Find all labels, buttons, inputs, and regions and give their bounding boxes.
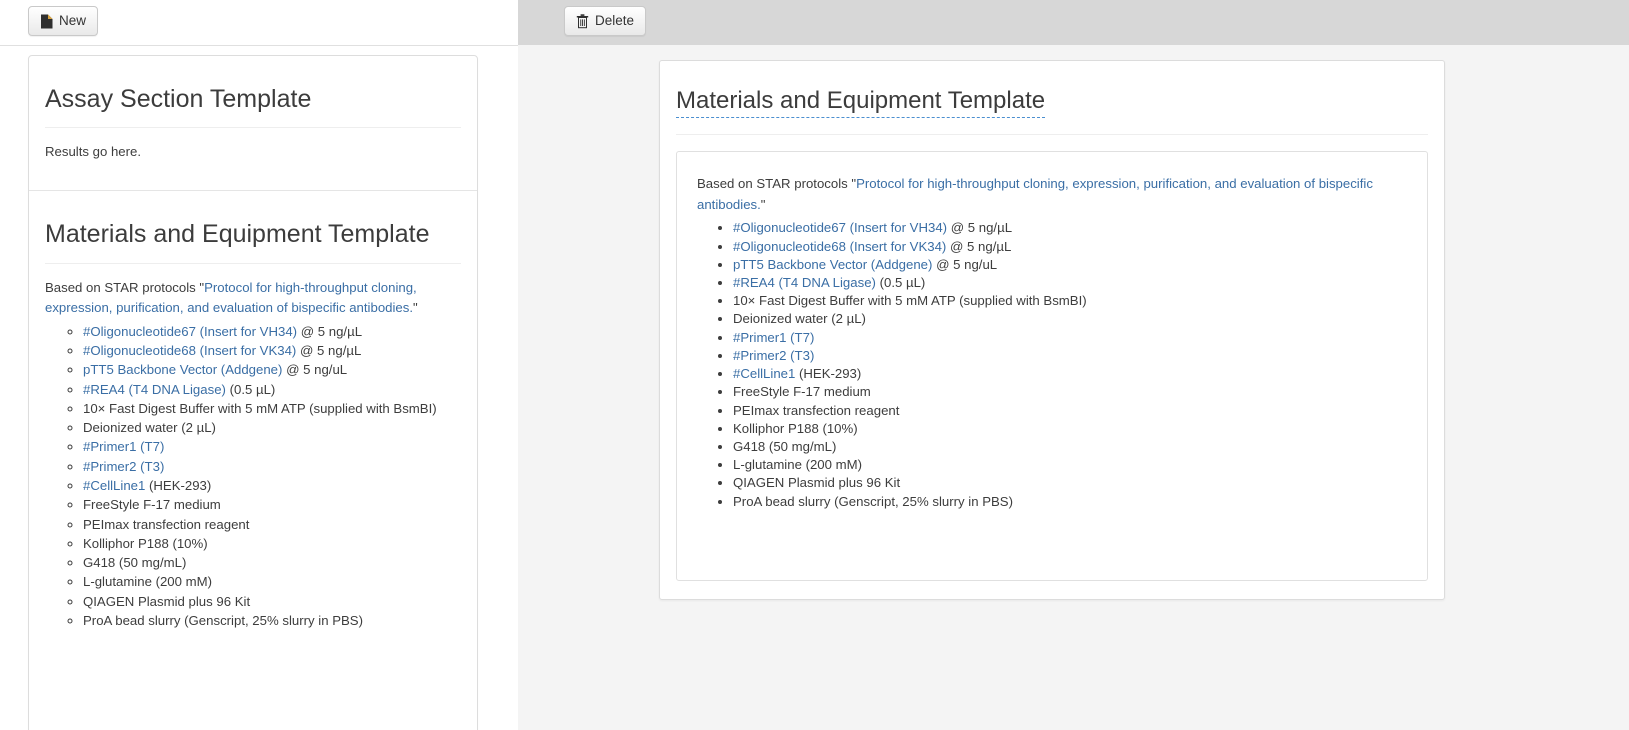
material-list-item: PEImax transfection reagent <box>733 402 1407 420</box>
intro-prefix: Based on STAR protocols " <box>697 176 856 191</box>
materials-list-left: #Oligonucleotide67 (Insert for VH34) @ 5… <box>45 322 461 631</box>
new-button-label: New <box>59 14 86 28</box>
material-reference[interactable]: #Oligonucleotide67 (Insert for VH34) <box>83 324 297 339</box>
material-list-item: FreeStyle F-17 medium <box>83 495 461 514</box>
material-list-item: #Primer1 (T7) <box>83 437 461 456</box>
material-detail: FreeStyle F-17 medium <box>83 497 221 512</box>
material-list-item: 10× Fast Digest Buffer with 5 mM ATP (su… <box>733 292 1407 310</box>
delete-button-label: Delete <box>595 14 634 28</box>
material-list-item: Deionized water (2 µL) <box>733 310 1407 328</box>
material-detail: L-glutamine (200 mM) <box>733 457 862 472</box>
editor-intro-paragraph: Based on STAR protocols "Protocol for hi… <box>697 174 1407 215</box>
material-list-item: QIAGEN Plasmid plus 96 Kit <box>733 474 1407 492</box>
material-reference[interactable]: #REA4 (T4 DNA Ligase) <box>83 382 226 397</box>
section-body-assay: Results go here. <box>45 142 461 162</box>
left-toolbar: New <box>0 0 518 46</box>
material-list-item: #Primer2 (T3) <box>83 457 461 476</box>
material-list-item: #Oligonucleotide68 (Insert for VK34) @ 5… <box>733 238 1407 256</box>
material-detail: Deionized water (2 µL) <box>733 311 866 326</box>
material-reference[interactable]: #Primer2 (T3) <box>83 459 164 474</box>
material-list-item: #Primer2 (T3) <box>733 347 1407 365</box>
material-detail: G418 (50 mg/mL) <box>733 439 836 454</box>
material-detail: @ 5 ng/µL <box>946 239 1011 254</box>
editor-title-field[interactable]: Materials and Equipment Template <box>676 85 1045 118</box>
material-detail: (HEK-293) <box>145 478 211 493</box>
material-detail: ProA bead slurry (Genscript, 25% slurry … <box>733 494 1013 509</box>
material-reference[interactable]: #Primer1 (T7) <box>733 330 814 345</box>
editor-content-box[interactable]: Based on STAR protocols "Protocol for hi… <box>676 151 1428 581</box>
intro-suffix: " <box>413 300 418 315</box>
right-scroll-area[interactable]: Materials and Equipment Template Based o… <box>518 45 1629 730</box>
material-reference[interactable]: #CellLine1 <box>733 366 795 381</box>
material-list-item: L-glutamine (200 mM) <box>83 572 461 591</box>
section-title-materials: Materials and Equipment Template <box>45 219 461 250</box>
material-list-item: Kolliphor P188 (10%) <box>83 534 461 553</box>
intro-suffix: " <box>761 197 766 212</box>
material-list-item: G418 (50 mg/mL) <box>83 553 461 572</box>
material-reference[interactable]: #Oligonucleotide67 (Insert for VH34) <box>733 220 947 235</box>
section-materials: Materials and Equipment Template Based o… <box>29 191 477 630</box>
app-root: New Assay Section Template Results go he… <box>0 0 1629 730</box>
material-list-item: PEImax transfection reagent <box>83 515 461 534</box>
material-reference[interactable]: #CellLine1 <box>83 478 145 493</box>
right-toolbar: Delete <box>518 0 1629 45</box>
material-reference[interactable]: #Primer1 (T7) <box>83 439 164 454</box>
editor-card: Materials and Equipment Template Based o… <box>659 60 1445 600</box>
section-title-assay: Assay Section Template <box>45 84 461 115</box>
material-list-item: #CellLine1 (HEK-293) <box>733 365 1407 383</box>
material-detail: G418 (50 mg/mL) <box>83 555 186 570</box>
material-list-item: Deionized water (2 µL) <box>83 418 461 437</box>
intro-prefix: Based on STAR protocols " <box>45 280 204 295</box>
material-detail: L-glutamine (200 mM) <box>83 574 212 589</box>
material-list-item: #REA4 (T4 DNA Ligase) (0.5 µL) <box>733 274 1407 292</box>
left-document-card: Assay Section Template Results go here. … <box>28 55 478 730</box>
material-reference[interactable]: #Oligonucleotide68 (Insert for VK34) <box>733 239 946 254</box>
material-list-item: ProA bead slurry (Genscript, 25% slurry … <box>83 611 461 630</box>
material-detail: (0.5 µL) <box>876 275 925 290</box>
material-reference[interactable]: #Primer2 (T3) <box>733 348 814 363</box>
material-list-item: L-glutamine (200 mM) <box>733 456 1407 474</box>
section-intro-paragraph: Based on STAR protocols "Protocol for hi… <box>45 278 461 318</box>
material-list-item: #Oligonucleotide68 (Insert for VK34) @ 5… <box>83 341 461 360</box>
material-list-item: #CellLine1 (HEK-293) <box>83 476 461 495</box>
trash-icon <box>576 14 589 29</box>
material-detail: ProA bead slurry (Genscript, 25% slurry … <box>83 613 363 628</box>
material-list-item: #Oligonucleotide67 (Insert for VH34) @ 5… <box>83 322 461 341</box>
material-detail: PEImax transfection reagent <box>733 403 899 418</box>
material-detail: PEImax transfection reagent <box>83 517 249 532</box>
material-detail: QIAGEN Plasmid plus 96 Kit <box>83 594 250 609</box>
material-detail: @ 5 ng/uL <box>932 257 997 272</box>
delete-button[interactable]: Delete <box>564 6 646 36</box>
material-detail: Deionized water (2 µL) <box>83 420 216 435</box>
material-list-item: FreeStyle F-17 medium <box>733 383 1407 401</box>
material-detail: (0.5 µL) <box>226 382 275 397</box>
material-reference[interactable]: #REA4 (T4 DNA Ligase) <box>733 275 876 290</box>
material-list-item: QIAGEN Plasmid plus 96 Kit <box>83 592 461 611</box>
material-detail: FreeStyle F-17 medium <box>733 384 871 399</box>
material-detail: QIAGEN Plasmid plus 96 Kit <box>733 475 900 490</box>
material-reference[interactable]: #Oligonucleotide68 (Insert for VK34) <box>83 343 296 358</box>
section-assay: Assay Section Template Results go here. <box>29 56 477 191</box>
material-list-item: 10× Fast Digest Buffer with 5 mM ATP (su… <box>83 399 461 418</box>
material-reference[interactable]: pTT5 Backbone Vector (Addgene) <box>733 257 932 272</box>
material-list-item: #Primer1 (T7) <box>733 329 1407 347</box>
left-pane: New Assay Section Template Results go he… <box>0 0 518 730</box>
section-title-rule <box>45 263 461 264</box>
new-button[interactable]: New <box>28 6 98 36</box>
editor-title-rule <box>676 134 1428 135</box>
material-detail: (HEK-293) <box>795 366 861 381</box>
material-detail: @ 5 ng/µL <box>296 343 361 358</box>
material-detail: Kolliphor P188 (10%) <box>733 421 858 436</box>
section-title-rule <box>45 127 461 128</box>
new-file-icon <box>40 14 53 29</box>
material-list-item: #Oligonucleotide67 (Insert for VH34) @ 5… <box>733 219 1407 237</box>
material-detail: @ 5 ng/µL <box>297 324 362 339</box>
right-pane: Delete Materials and Equipment Template … <box>518 0 1629 730</box>
materials-list-right: #Oligonucleotide67 (Insert for VH34) @ 5… <box>697 219 1407 511</box>
material-reference[interactable]: pTT5 Backbone Vector (Addgene) <box>83 362 282 377</box>
material-detail: @ 5 ng/uL <box>282 362 347 377</box>
material-list-item: pTT5 Backbone Vector (Addgene) @ 5 ng/uL <box>83 360 461 379</box>
material-list-item: ProA bead slurry (Genscript, 25% slurry … <box>733 493 1407 511</box>
material-detail: Kolliphor P188 (10%) <box>83 536 208 551</box>
material-detail: 10× Fast Digest Buffer with 5 mM ATP (su… <box>733 293 1087 308</box>
material-list-item: Kolliphor P188 (10%) <box>733 420 1407 438</box>
material-list-item: #REA4 (T4 DNA Ligase) (0.5 µL) <box>83 380 461 399</box>
material-detail: @ 5 ng/µL <box>947 220 1012 235</box>
material-list-item: G418 (50 mg/mL) <box>733 438 1407 456</box>
material-list-item: pTT5 Backbone Vector (Addgene) @ 5 ng/uL <box>733 256 1407 274</box>
material-detail: 10× Fast Digest Buffer with 5 mM ATP (su… <box>83 401 437 416</box>
